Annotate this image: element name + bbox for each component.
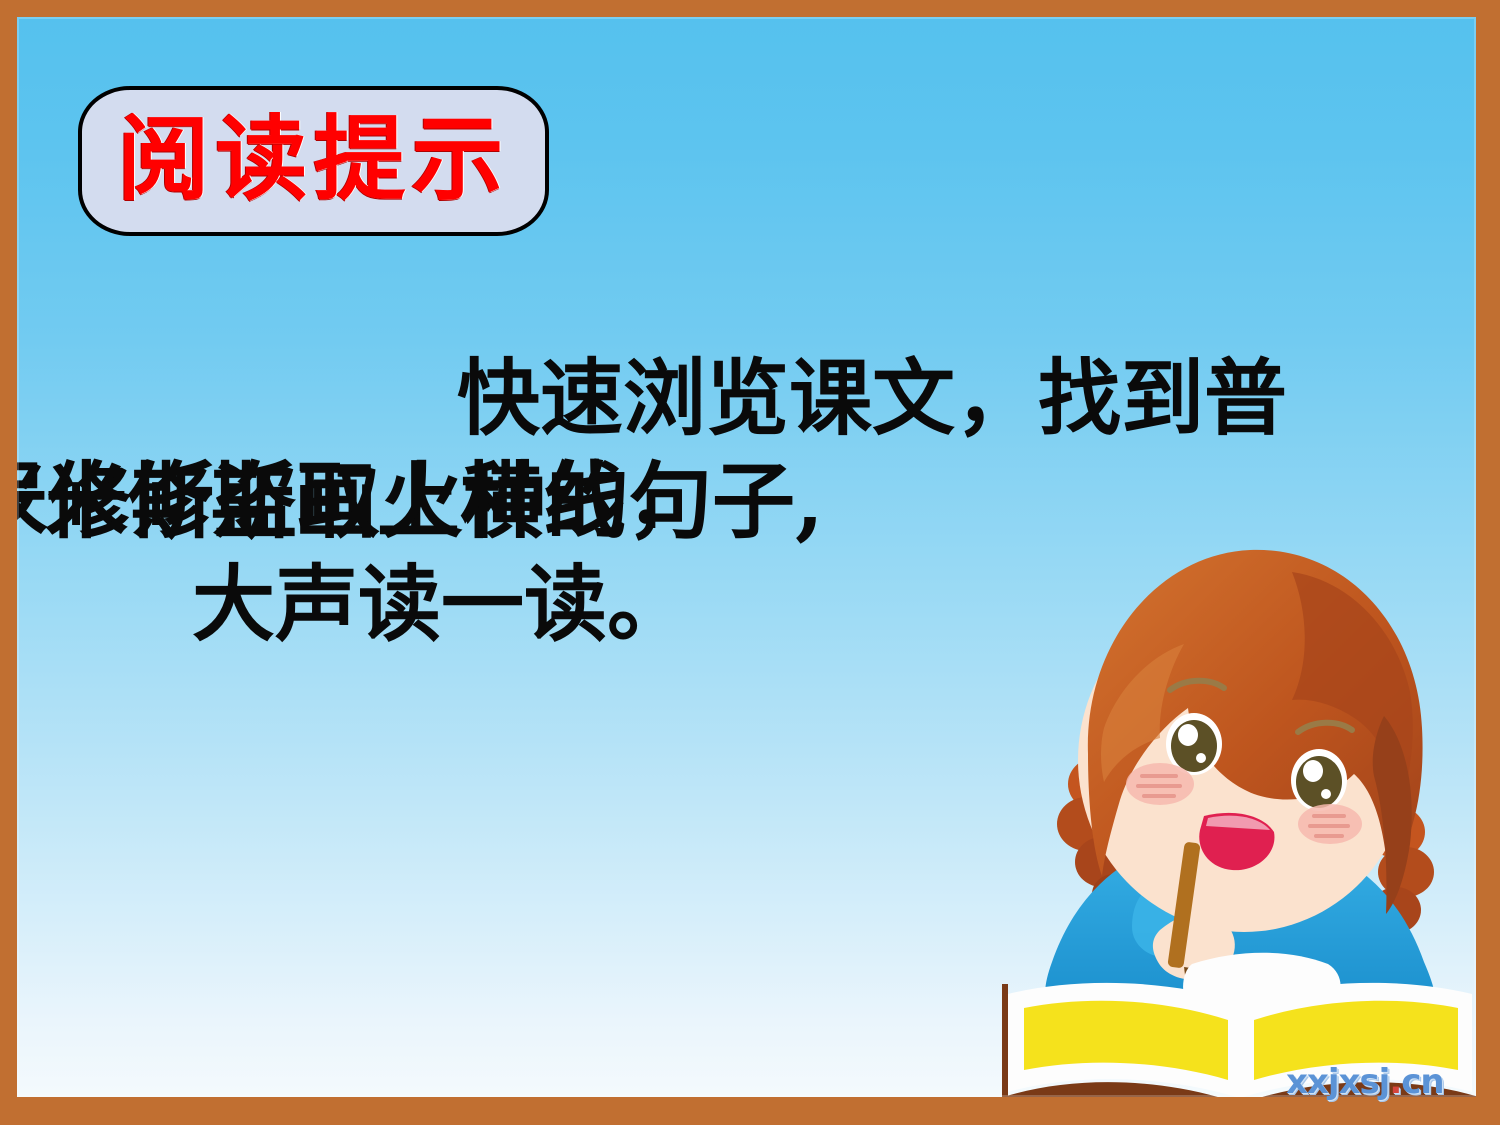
site-watermark: xxjxsj.cn bbox=[1286, 1062, 1444, 1102]
frame-border-top bbox=[0, 0, 1500, 17]
page-title: 阅读提示 bbox=[82, 113, 545, 205]
instruction-overlap-run: 罗米修斯盗取火种的句子, bbox=[17, 450, 824, 553]
instruction-line-3: 大声读一读。 bbox=[17, 553, 1292, 656]
slide-surface: 阅读提示 快速浏览课文，找到普 罗米修斯盗取火种的句子, 罗米修斯画上横线， 大… bbox=[17, 17, 1476, 1097]
watermark-name: xxjxsj bbox=[1286, 1062, 1389, 1102]
instruction-text-block: 快速浏览课文，找到普 罗米修斯盗取火种的句子, 罗米修斯画上横线， 大声读一读。 bbox=[17, 347, 1292, 656]
watermark-dot: . bbox=[1389, 1062, 1401, 1102]
frame-border-right bbox=[1476, 0, 1500, 1125]
frame-border-left bbox=[0, 0, 17, 1125]
reading-tip-title-box: 阅读提示 bbox=[78, 86, 549, 236]
slide-canvas: 阅读提示 快速浏览课文，找到普 罗米修斯盗取火种的句子, 罗米修斯画上横线， 大… bbox=[0, 0, 1500, 1125]
instruction-line-1: 快速浏览课文，找到普 bbox=[17, 347, 1292, 450]
frame-border-bottom bbox=[0, 1097, 1500, 1125]
instruction-line-2-wrapper: 罗米修斯盗取火种的句子, 罗米修斯画上横线， bbox=[17, 450, 1292, 553]
watermark-tld: cn bbox=[1401, 1062, 1443, 1102]
